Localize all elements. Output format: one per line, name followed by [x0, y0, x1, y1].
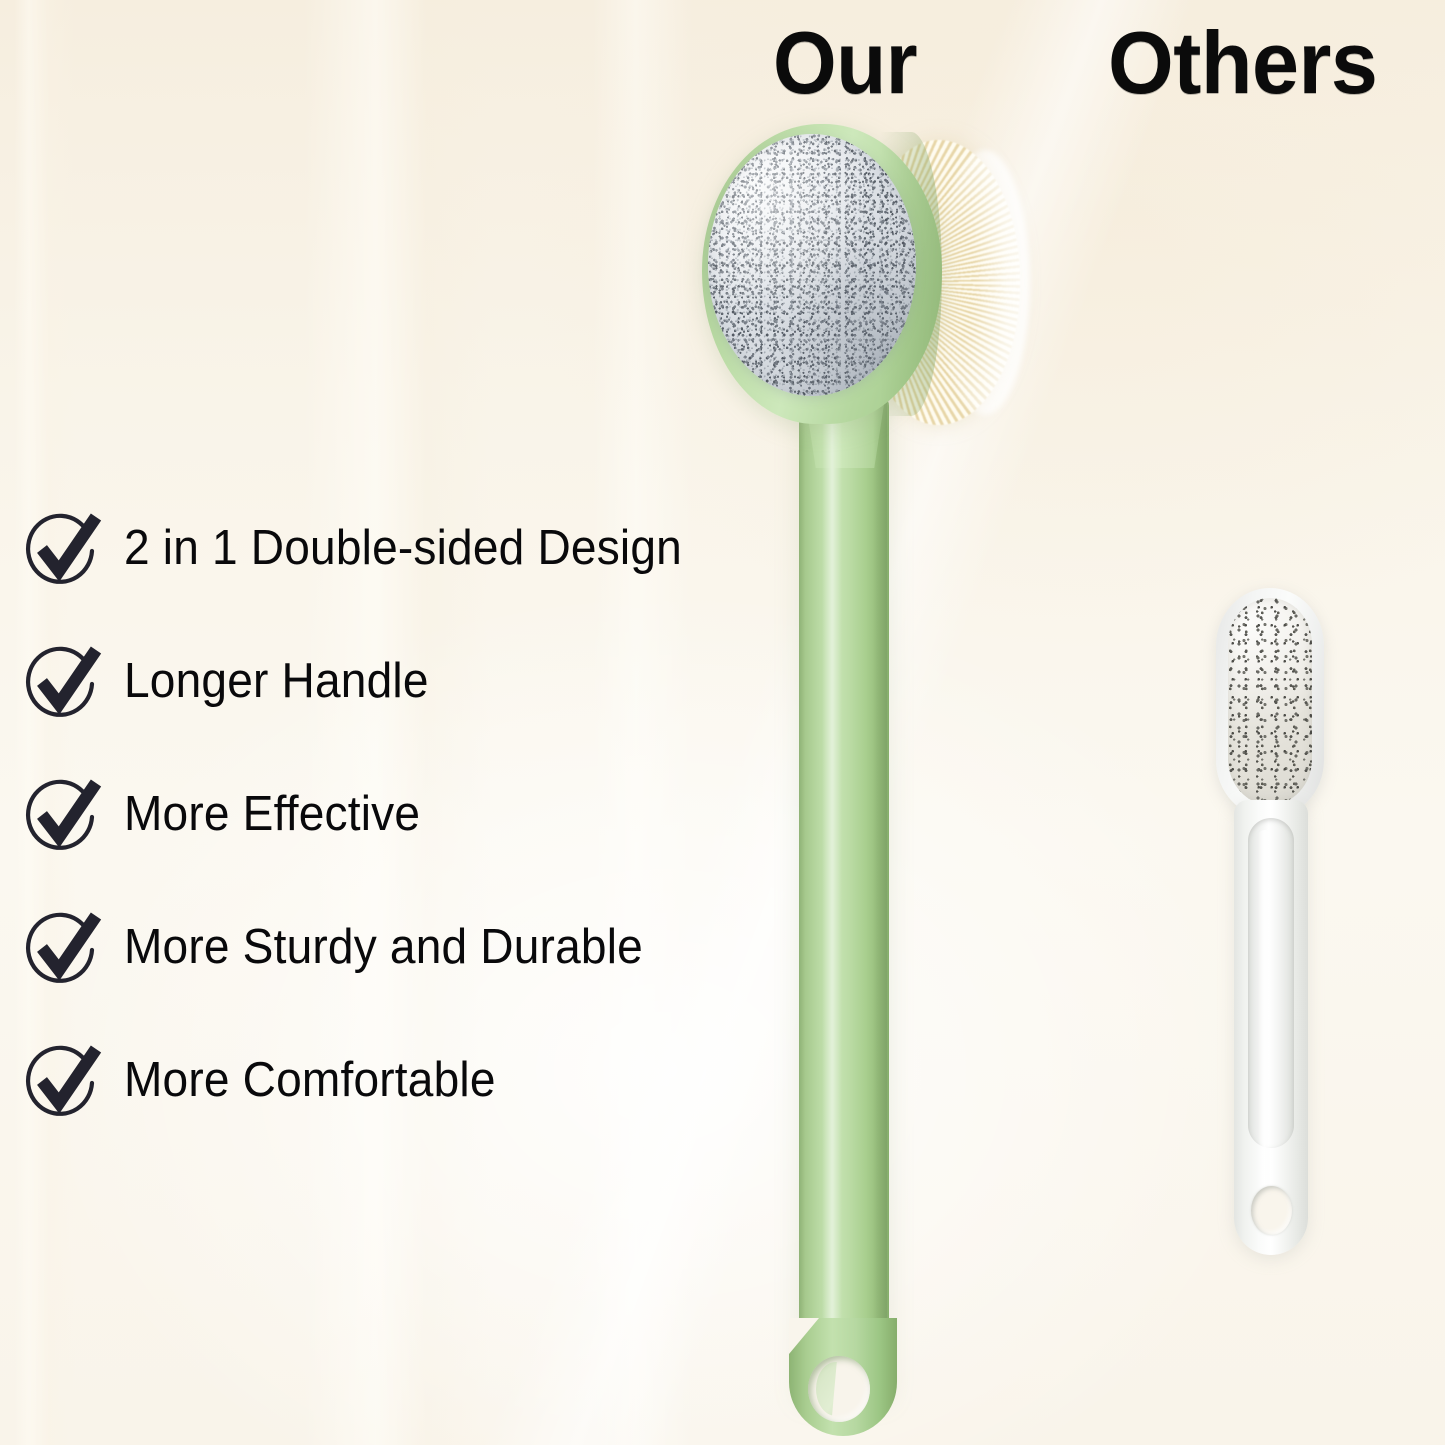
other-pumice-pad: [1228, 598, 1312, 805]
product-comparison-image: Our Others 2 in 1 Double-sided Design Lo…: [0, 0, 1445, 1445]
other-handle-highlight: [1258, 830, 1271, 1210]
other-handle-groove: [1248, 818, 1294, 1148]
other-pumice-texture: [1228, 598, 1312, 805]
other-product-image: [0, 0, 1445, 1445]
other-hanging-hole: [1251, 1186, 1292, 1235]
